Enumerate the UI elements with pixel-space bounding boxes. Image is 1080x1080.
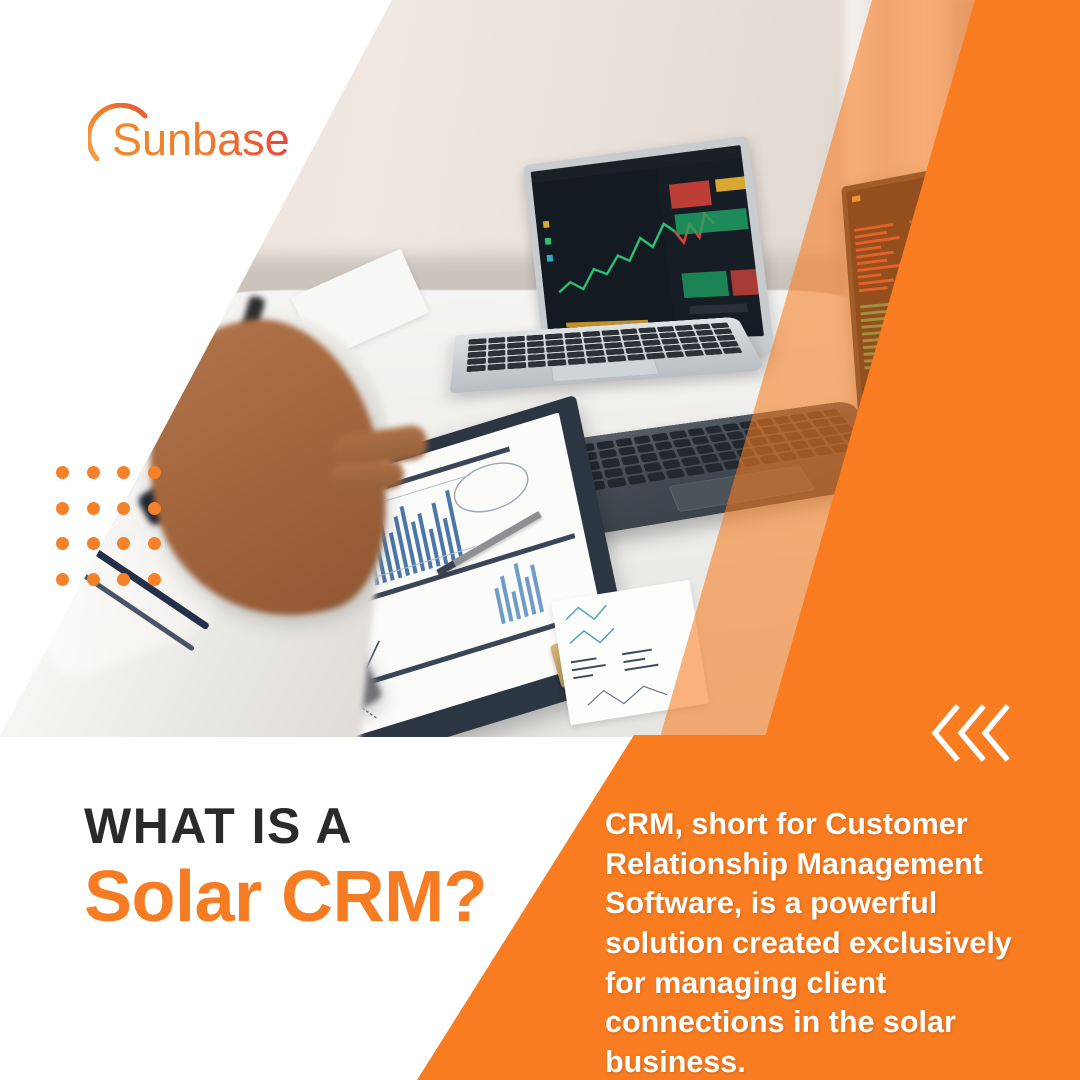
decor-dot bbox=[56, 466, 69, 479]
decor-dot bbox=[148, 537, 161, 550]
sunbase-arc-logo-icon: Sunbase bbox=[88, 103, 298, 169]
silver-laptop-screen bbox=[531, 145, 764, 341]
decor-dot bbox=[148, 466, 161, 479]
decor-dot bbox=[87, 573, 100, 586]
decor-dot bbox=[148, 502, 161, 515]
body-text-block: CRM, short for Customer Relationship Man… bbox=[605, 805, 1060, 1080]
sunbase-logo[interactable]: Sunbase bbox=[88, 103, 298, 169]
body-paragraph: CRM, short for Customer Relationship Man… bbox=[605, 805, 1060, 1080]
decor-dot bbox=[56, 502, 69, 515]
small-paper-graphic bbox=[551, 580, 709, 725]
chevron-left-icon bbox=[935, 708, 956, 758]
dot-grid-decoration bbox=[56, 466, 178, 608]
decor-dot bbox=[117, 466, 130, 479]
decor-dot bbox=[87, 502, 100, 515]
small-paper-with-diagram bbox=[551, 580, 709, 725]
social-post-canvas: Sunbase WHAT IS A Solar CRM? CRM, short … bbox=[0, 0, 1080, 1080]
decor-dot bbox=[87, 466, 100, 479]
decor-dot bbox=[56, 573, 69, 586]
headline-line-2: Solar CRM? bbox=[84, 859, 554, 935]
decor-dot bbox=[117, 537, 130, 550]
trading-chart-graphic bbox=[532, 153, 764, 341]
decor-dot bbox=[148, 573, 161, 586]
decor-dot bbox=[117, 502, 130, 515]
chevron-left-icon bbox=[961, 708, 982, 758]
chevron-left-icon bbox=[985, 708, 1006, 758]
sunbase-wordmark: Sunbase bbox=[112, 114, 290, 165]
chevron-group-decoration bbox=[930, 702, 1010, 769]
decor-dot bbox=[117, 573, 130, 586]
decor-dot bbox=[87, 537, 100, 550]
middle-finger bbox=[329, 459, 405, 492]
headline-block: WHAT IS A Solar CRM? bbox=[84, 800, 554, 935]
decor-dot bbox=[56, 537, 69, 550]
headline-line-1: WHAT IS A bbox=[84, 800, 554, 853]
